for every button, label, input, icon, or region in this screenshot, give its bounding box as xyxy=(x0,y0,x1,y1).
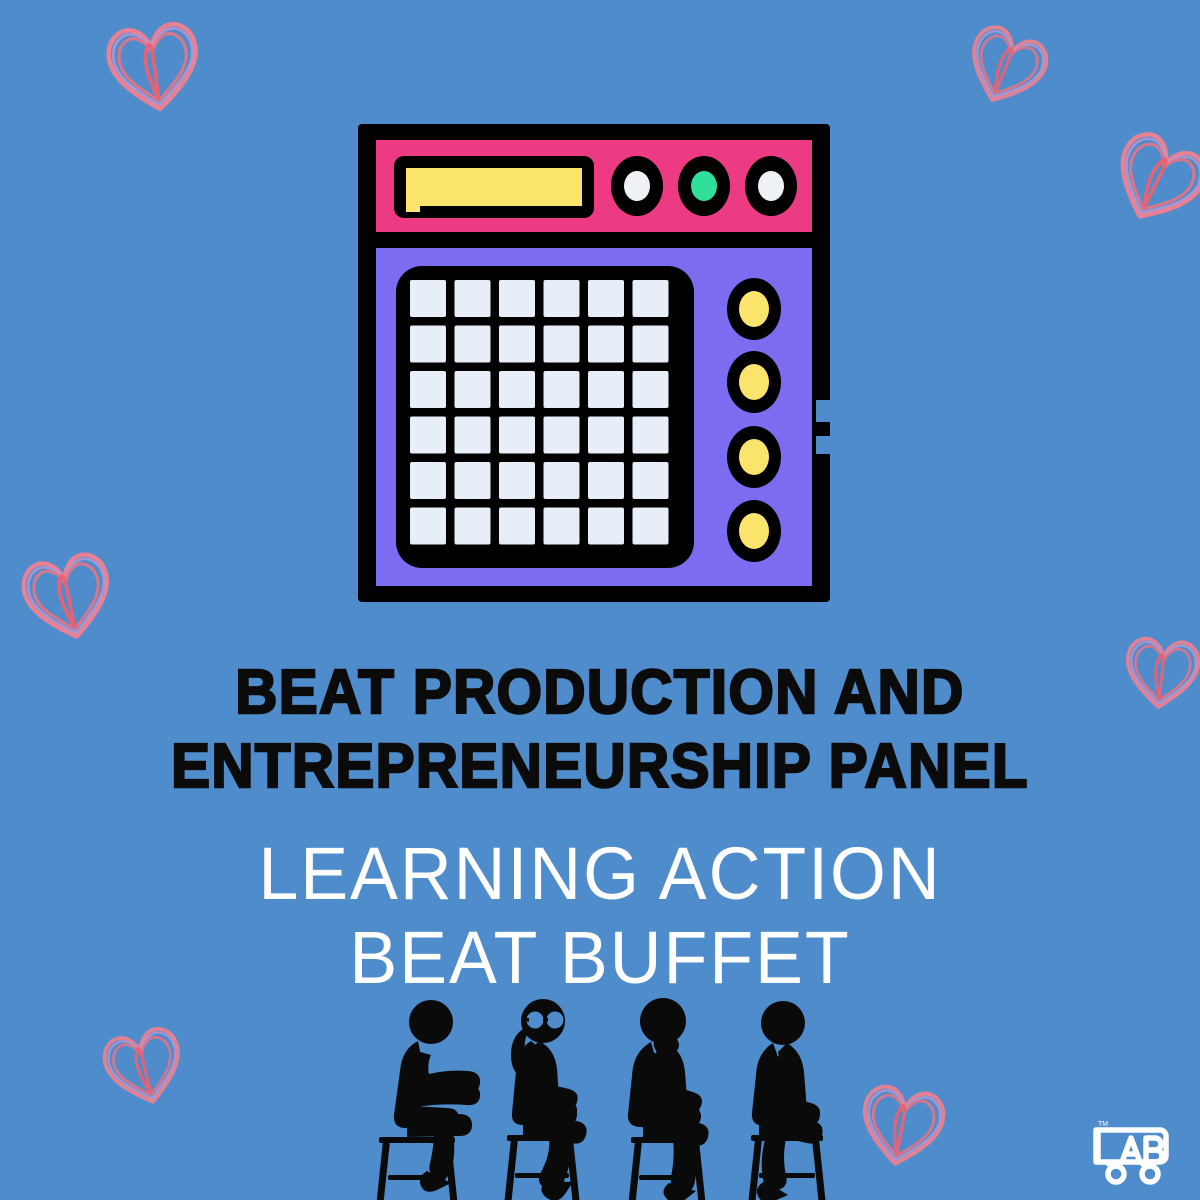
drum-pad[interactable] xyxy=(544,280,580,317)
drum-pad[interactable] xyxy=(499,326,535,363)
poster-headline: BEAT PRODUCTION AND ENTREPRENEURSHIP PAN… xyxy=(36,656,1164,804)
drum-pad[interactable] xyxy=(410,326,446,363)
lab-letter-a xyxy=(1122,1138,1140,1162)
pad-grid xyxy=(396,266,694,568)
drum-pad[interactable] xyxy=(410,371,446,408)
drum-pad[interactable] xyxy=(499,371,535,408)
figure-1-gesturing xyxy=(377,1000,481,1200)
side-button-4 xyxy=(727,500,781,562)
heart-doodle-lower-left xyxy=(88,1010,200,1122)
drum-pad[interactable] xyxy=(499,508,535,545)
drum-pad[interactable] xyxy=(455,326,491,363)
drum-pad[interactable] xyxy=(588,417,624,454)
heart-doodle-top-left xyxy=(89,6,218,125)
drum-pad[interactable] xyxy=(588,280,624,317)
headline-line-2: ENTREPRENEURSHIP PANEL xyxy=(36,730,1164,804)
display-screen xyxy=(394,156,594,218)
drum-pad[interactable] xyxy=(633,280,669,317)
side-button-1 xyxy=(727,278,781,340)
poster-subhead: LEARNING ACTION BEAT BUFFET xyxy=(18,832,1182,1000)
heart-doodle-upper-right xyxy=(1089,110,1200,247)
drum-pad[interactable] xyxy=(544,326,580,363)
drum-pad[interactable] xyxy=(410,508,446,545)
drum-pad[interactable] xyxy=(410,417,446,454)
drum-pad[interactable] xyxy=(633,462,669,499)
drum-pad[interactable] xyxy=(544,417,580,454)
drum-pad[interactable] xyxy=(410,280,446,317)
headline-line-1: BEAT PRODUCTION AND xyxy=(36,656,1164,730)
panel-figures-illustration xyxy=(355,995,845,1200)
drum-pad[interactable] xyxy=(633,508,669,545)
figure-3-hand-on-chin xyxy=(628,998,709,1200)
drum-pad[interactable] xyxy=(455,462,491,499)
knob-1 xyxy=(611,156,663,216)
drum-pad[interactable] xyxy=(588,371,624,408)
drum-pad[interactable] xyxy=(455,508,491,545)
drum-pad[interactable] xyxy=(633,417,669,454)
drum-pad[interactable] xyxy=(499,280,535,317)
side-button-3 xyxy=(727,426,781,488)
drum-pad[interactable] xyxy=(499,417,535,454)
lab-letter-b-bottom xyxy=(1146,1150,1162,1162)
drum-pad[interactable] xyxy=(588,326,624,363)
lab-tm-mark: TM xyxy=(1098,1121,1108,1128)
drum-pad[interactable] xyxy=(455,417,491,454)
lab-cart-body xyxy=(1096,1130,1166,1162)
drum-machine-illustration xyxy=(352,118,836,608)
heart-doodle-bottom-right xyxy=(845,1070,960,1180)
poster-canvas: BEAT PRODUCTION AND ENTREPRENEURSHIP PAN… xyxy=(0,0,1200,1200)
side-button-2 xyxy=(727,351,781,413)
top-knob-group xyxy=(611,156,797,216)
drum-pad[interactable] xyxy=(455,280,491,317)
drum-pad[interactable] xyxy=(499,462,535,499)
figure-2-glasses-ponytail xyxy=(504,999,586,1200)
drum-pad[interactable] xyxy=(544,371,580,408)
drum-pad[interactable] xyxy=(588,508,624,545)
drum-pad[interactable] xyxy=(455,371,491,408)
drum-pad[interactable] xyxy=(633,371,669,408)
drum-pad[interactable] xyxy=(588,462,624,499)
heart-doodle-mid-left xyxy=(7,536,130,655)
drum-pad[interactable] xyxy=(410,462,446,499)
knob-3 xyxy=(745,156,797,216)
drum-pad[interactable] xyxy=(544,508,580,545)
subhead-line-1: LEARNING ACTION xyxy=(18,832,1182,916)
subhead-line-2: BEAT BUFFET xyxy=(18,916,1182,1000)
drum-pad[interactable] xyxy=(633,326,669,363)
knob-2 xyxy=(678,156,730,216)
heart-doodle-top-right xyxy=(945,7,1067,125)
drum-pad[interactable] xyxy=(544,462,580,499)
lab-logo: TM xyxy=(1082,1112,1178,1186)
figure-4-listening xyxy=(748,1001,825,1200)
